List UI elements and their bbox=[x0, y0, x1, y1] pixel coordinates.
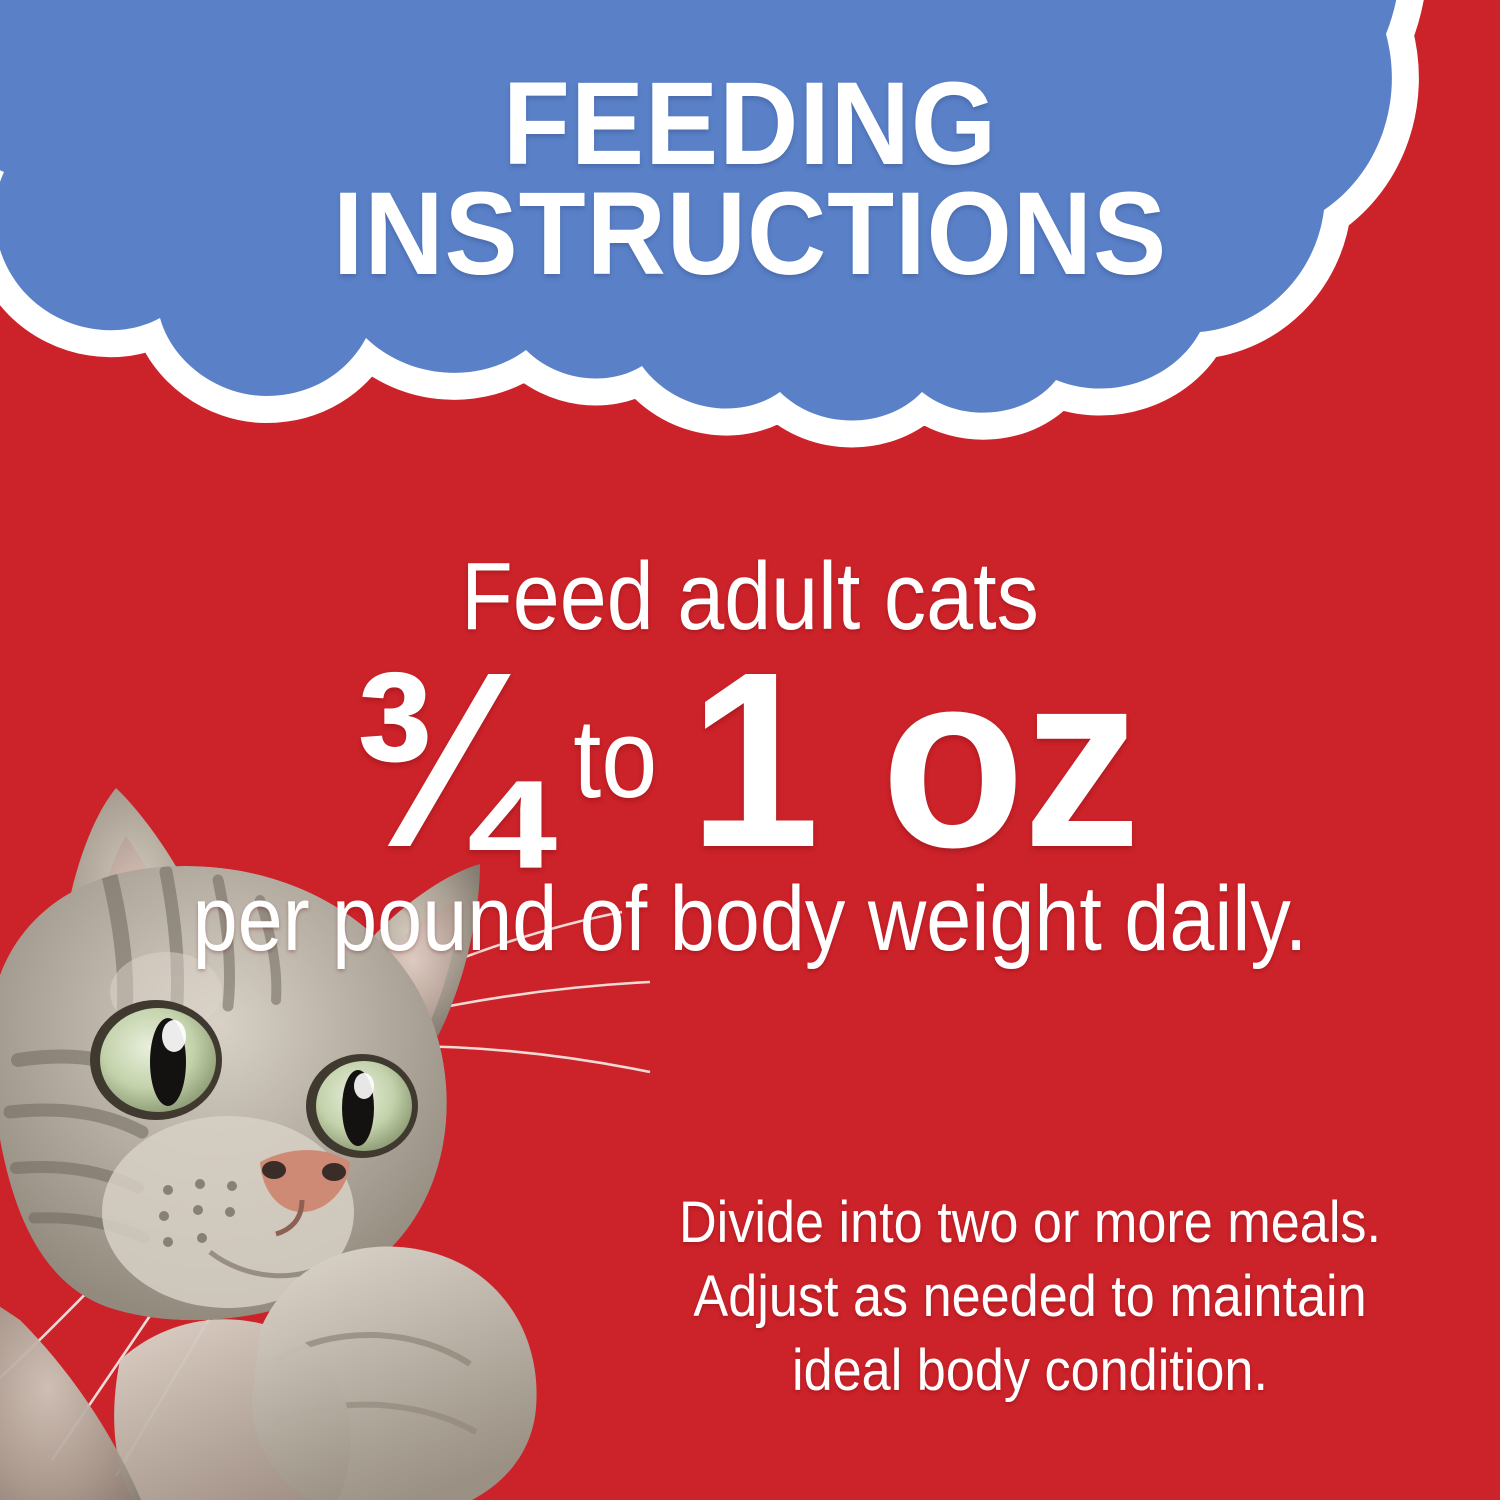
cat-paws bbox=[114, 1246, 536, 1500]
feeding-amount: ¾ to 1 oz bbox=[0, 652, 1500, 867]
whisker-pads bbox=[159, 1179, 237, 1247]
feeding-headline: Feed adult cats ¾ to 1 oz per pound of b… bbox=[0, 548, 1500, 968]
amount-from: ¾ bbox=[349, 652, 535, 867]
whiskers-icon bbox=[0, 912, 650, 1476]
amount-conjunction: to bbox=[543, 703, 681, 867]
cat-chest bbox=[0, 1280, 156, 1500]
feeding-instructions-poster: FEEDING INSTRUCTIONS bbox=[0, 0, 1500, 1500]
page-title: FEEDING INSTRUCTIONS bbox=[53, 70, 1448, 289]
headline-tail: per pound of body weight daily. bbox=[90, 871, 1410, 968]
cat-eye-left bbox=[90, 1000, 222, 1120]
amount-to: 1 oz bbox=[689, 652, 1139, 867]
cat-mouth bbox=[210, 1252, 336, 1276]
cat-eye-right bbox=[306, 1054, 418, 1158]
feeding-fineprint: Divide into two or more meals. Adjust as… bbox=[661, 1186, 1399, 1409]
cat-nose bbox=[260, 1150, 350, 1234]
